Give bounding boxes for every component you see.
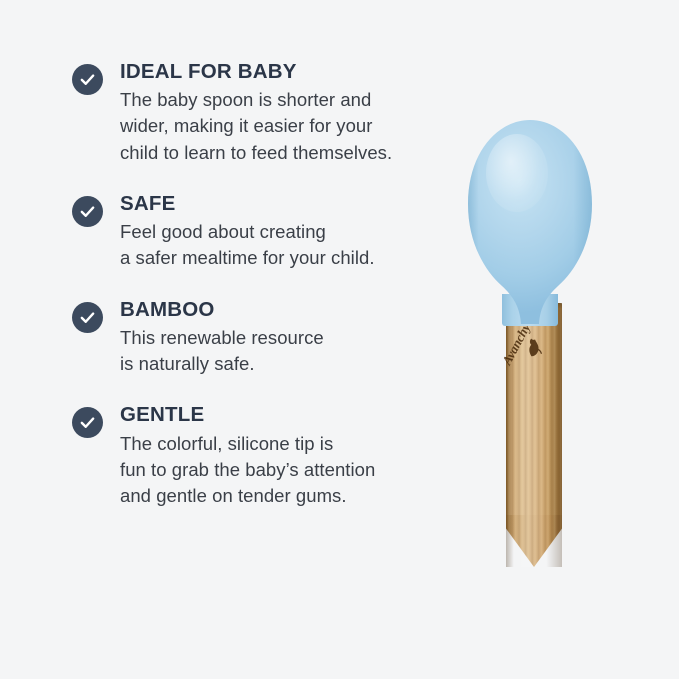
feature-item-ideal-for-baby: IDEAL FOR BABY The baby spoon is shorter… (72, 60, 432, 166)
infographic-page: IDEAL FOR BABY The baby spoon is shorter… (0, 0, 679, 679)
feature-description-line: child to learn to feed themselves. (120, 140, 432, 166)
feature-item-bamboo: BAMBOO This renewable resource is natura… (72, 298, 432, 378)
product-image-baby-spoon: Avanchy (462, 118, 598, 568)
feature-list: IDEAL FOR BABY The baby spoon is shorter… (72, 60, 432, 509)
feature-item-gentle: GENTLE The colorful, silicone tip is fun… (72, 403, 432, 509)
feature-title: IDEAL FOR BABY (120, 60, 432, 84)
feature-title: GENTLE (120, 403, 432, 427)
feature-description: Feel good about creating a safer mealtim… (120, 219, 432, 272)
check-circle-icon (72, 196, 103, 227)
feature-description-line: This renewable resource (120, 325, 432, 351)
feature-description-line: fun to grab the baby’s attention (120, 457, 432, 483)
feature-description: The baby spoon is shorter and wider, mak… (120, 87, 432, 166)
bowl-shape (466, 118, 594, 330)
feature-description-line: Feel good about creating (120, 219, 432, 245)
check-circle-icon (72, 302, 103, 333)
check-circle-icon (72, 407, 103, 438)
feature-description-line: a safer mealtime for your child. (120, 245, 432, 271)
check-circle-icon (72, 64, 103, 95)
feature-item-safe: SAFE Feel good about creating a safer me… (72, 192, 432, 272)
feature-description-line: is naturally safe. (120, 351, 432, 377)
feature-description-line: The colorful, silicone tip is (120, 431, 432, 457)
feature-description: This renewable resource is naturally saf… (120, 325, 432, 378)
feature-title: BAMBOO (120, 298, 432, 322)
bamboo-handle: Avanchy (506, 303, 562, 565)
handle-tip (506, 515, 562, 567)
feature-description-line: The baby spoon is shorter and (120, 87, 432, 113)
feature-title: SAFE (120, 192, 432, 216)
silicone-bowl (462, 118, 598, 333)
feature-description-line: and gentle on tender gums. (120, 483, 432, 509)
feature-description: The colorful, silicone tip is fun to gra… (120, 431, 432, 510)
feature-description-line: wider, making it easier for your (120, 113, 432, 139)
